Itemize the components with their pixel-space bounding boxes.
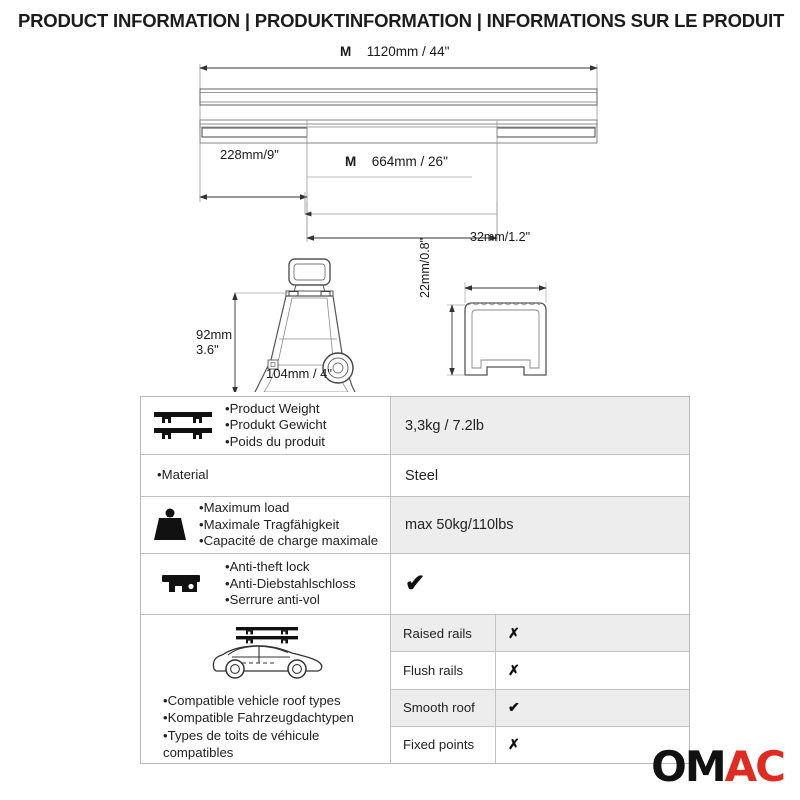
roof-option-flush-rails: Flush rails ✗ (391, 652, 689, 689)
dim-offset: 228mm/9" (220, 147, 279, 162)
dim-foot-height-mm: 92mm (196, 328, 232, 343)
spec-label-fr: •Capacité de charge maximale (199, 533, 378, 550)
logo-text-dark: OM (651, 742, 725, 791)
spec-label-cell: •Material (141, 455, 391, 496)
technical-drawing: M 1120mm / 44" 228mm/9" M 664mm / 26" 92… (0, 42, 800, 392)
spec-label-de: •Anti-Diebstahlschloss (225, 576, 356, 593)
spec-value-anti-theft: ✔ (391, 554, 689, 614)
checkmark-icon: ✔ (508, 699, 520, 716)
omac-logo: OMAC (651, 746, 784, 788)
table-row: •Anti-theft lock •Anti-Diebstahlschloss … (141, 554, 689, 615)
spec-label-de: •Maximale Tragfähigkeit (199, 517, 378, 534)
car-with-rack-icon (202, 623, 330, 686)
spec-label-cell: •Product Weight •Produkt Gewicht •Poids … (141, 397, 391, 454)
roof-option-value: ✗ (496, 652, 689, 688)
specifications-table: •Product Weight •Produkt Gewicht •Poids … (140, 396, 690, 764)
roof-types-options: Raised rails ✗ Flush rails ✗ Smooth roof… (391, 615, 689, 763)
dim-foot-height: 92mm 3.6" (196, 328, 232, 358)
dim-profile-height: 22mm/0.8" (418, 238, 432, 298)
spec-label-de: •Produkt Gewicht (225, 417, 326, 434)
checkmark-icon: ✔ (405, 572, 425, 596)
spec-label-text: •Product Weight •Produkt Gewicht •Poids … (225, 401, 330, 451)
table-row: •Material Steel (141, 455, 689, 497)
roof-label-fr: •Types de toits de véhicule (163, 727, 354, 744)
cross-icon: ✗ (508, 662, 520, 679)
roof-option-raised-rails: Raised rails ✗ (391, 615, 689, 652)
spec-label-en: •Anti-theft lock (225, 559, 356, 576)
spec-label-fr: •Serrure anti-vol (225, 592, 356, 609)
spec-label-en: •Maximum load (199, 500, 378, 517)
dim-foot-height-in: 3.6" (196, 343, 232, 358)
lock-icon (141, 569, 225, 599)
crossbars-icon (141, 409, 225, 443)
table-row: •Product Weight •Produkt Gewicht •Poids … (141, 397, 689, 455)
spec-label-text: •Maximum load •Maximale Tragfähigkeit •C… (199, 500, 382, 550)
roof-label-fr-cont: compatibles (163, 744, 354, 761)
spec-label-text: •Anti-theft lock •Anti-Diebstahlschloss … (225, 559, 360, 609)
table-row: •Compatible vehicle roof types •Kompatib… (141, 615, 689, 763)
spec-label-cell: •Anti-theft lock •Anti-Diebstahlschloss … (141, 554, 391, 614)
dim-bar-length-value: 1120mm / 44" (367, 44, 450, 59)
roof-label-de: •Kompatible Fahrzeugdachtypen (163, 709, 354, 726)
cross-icon: ✗ (508, 736, 520, 753)
spec-label-text: •Material (157, 467, 213, 484)
roof-option-value: ✔ (496, 690, 689, 726)
spec-label-en: •Product Weight (225, 401, 326, 418)
roof-option-name: Raised rails (391, 615, 496, 651)
spec-value-max-load: max 50kg/110lbs (391, 497, 689, 553)
roof-option-name: Fixed points (391, 727, 496, 763)
logo-text-red: AC (725, 742, 784, 791)
page-title: PRODUCT INFORMATION | PRODUKTINFORMATION… (0, 10, 784, 32)
table-row: •Maximum load •Maximale Tragfähigkeit •C… (141, 497, 689, 554)
spec-label-material: •Material (157, 467, 209, 484)
spec-label-cell: •Maximum load •Maximale Tragfähigkeit •C… (141, 497, 391, 553)
spec-value-weight: 3,3kg / 7.2lb (391, 397, 689, 454)
roof-option-name: Smooth roof (391, 690, 496, 726)
roof-option-name: Flush rails (391, 652, 496, 688)
roof-types-label-text: •Compatible vehicle roof types •Kompatib… (141, 686, 358, 761)
dim-span-value: 664mm / 26" (372, 154, 448, 169)
roof-types-label-cell: •Compatible vehicle roof types •Kompatib… (141, 615, 391, 763)
dim-span-prefix: M (345, 154, 356, 169)
roof-option-fixed-points: Fixed points ✗ (391, 727, 689, 763)
roof-label-en: •Compatible vehicle roof types (163, 692, 354, 709)
dim-profile-width: 32mm/1.2" (470, 230, 530, 244)
roof-option-smooth-roof: Smooth roof ✔ (391, 690, 689, 727)
cross-icon: ✗ (508, 625, 520, 642)
product-information-page: PRODUCT INFORMATION | PRODUKTINFORMATION… (0, 0, 800, 800)
page-header: PRODUCT INFORMATION | PRODUKTINFORMATION… (0, 0, 800, 42)
roof-option-value: ✗ (496, 615, 689, 651)
dim-span: M 664mm / 26" (345, 154, 448, 169)
dim-foot-width: 104mm / 4" (266, 366, 332, 381)
dim-bar-length: M 1120mm / 44" (340, 44, 449, 59)
spec-label-fr: •Poids du produit (225, 434, 326, 451)
weight-icon (141, 507, 199, 543)
spec-value-material: Steel (391, 455, 689, 496)
dim-bar-length-prefix: M (340, 44, 351, 59)
